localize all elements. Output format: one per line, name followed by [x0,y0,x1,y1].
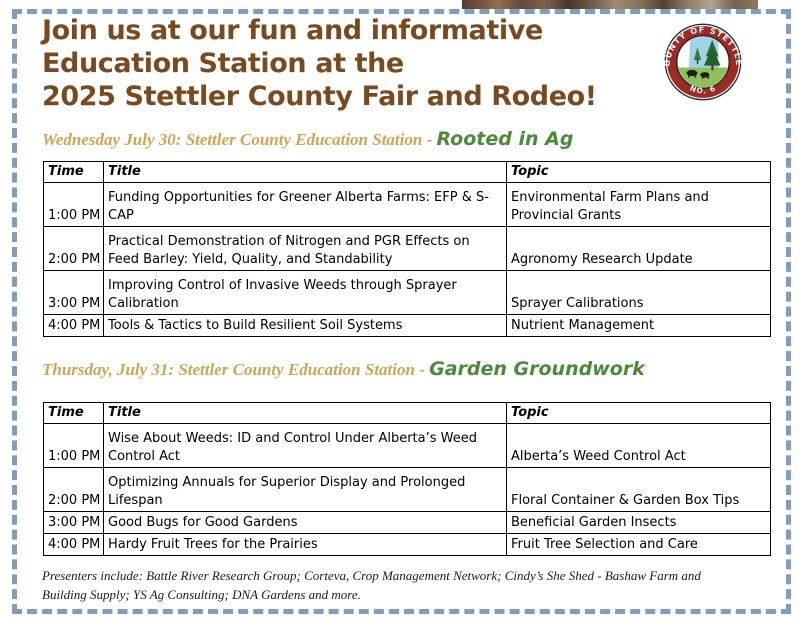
day1-date-label: Wednesday July 30: Stettler County Educa… [42,130,437,149]
cell-topic: Fruit Tree Selection and Care [507,534,771,556]
cell-title: Improving Control of Invasive Weeds thro… [104,271,507,315]
cell-topic: Floral Container & Garden Box Tips [507,468,771,512]
column-header-title: Title [104,403,507,424]
cell-title: Tools & Tactics to Build Resilient Soil … [104,315,507,337]
day2-date-label: Thursday, July 31: Stettler County Educa… [42,360,429,379]
day2-theme-label: Garden Groundwork [429,358,645,380]
cell-title: Hardy Fruit Trees for the Prairies [104,534,507,556]
column-header-time: Time [44,162,104,183]
presenters-note: Presenters include: Battle River Researc… [42,566,742,604]
page-title-line-3: 2025 Stettler County Fair and Rodeo! [42,80,642,113]
cell-title: Practical Demonstration of Nitrogen and … [104,227,507,271]
column-header-time: Time [44,403,104,424]
cell-time: 3:00 PM [44,512,104,534]
cell-topic: Environmental Farm Plans and Provincial … [507,183,771,227]
table-header-row: Time Title Topic [44,403,771,424]
county-of-stettler-seal-logo: COUNTY OF STETTLER NO. 6 [657,16,749,108]
page-title-line-2: Education Station at the [42,47,642,80]
day1-heading: Wednesday July 30: Stettler County Educa… [42,128,573,150]
table-row: 3:00 PM Improving Control of Invasive We… [44,271,771,315]
day2-schedule-table: Time Title Topic 1:00 PM Wise About Weed… [43,402,771,556]
cell-title: Funding Opportunities for Greener Albert… [104,183,507,227]
table-row: 1:00 PM Funding Opportunities for Greene… [44,183,771,227]
table-row: 1:00 PM Wise About Weeds: ID and Control… [44,424,771,468]
cell-time: 3:00 PM [44,271,104,315]
poster-header: Join us at our fun and informative Educa… [42,14,642,113]
poster-content: Join us at our fun and informative Educa… [0,0,803,630]
column-header-topic: Topic [507,162,771,183]
cell-topic: Sprayer Calibrations [507,271,771,315]
cell-topic: Agronomy Research Update [507,227,771,271]
cell-time: 2:00 PM [44,227,104,271]
cell-time: 4:00 PM [44,315,104,337]
column-header-title: Title [104,162,507,183]
cell-title: Good Bugs for Good Gardens [104,512,507,534]
day1-schedule-table: Time Title Topic 1:00 PM Funding Opportu… [43,161,771,337]
table-row: 3:00 PM Good Bugs for Good Gardens Benef… [44,512,771,534]
cell-time: 4:00 PM [44,534,104,556]
cell-title: Optimizing Annuals for Superior Display … [104,468,507,512]
column-header-topic: Topic [507,403,771,424]
cell-topic: Beneficial Garden Insects [507,512,771,534]
day1-theme-label: Rooted in Ag [437,128,574,150]
cell-time: 1:00 PM [44,183,104,227]
cell-topic: Nutrient Management [507,315,771,337]
page-title-line-1: Join us at our fun and informative [42,14,642,47]
cell-topic: Alberta’s Weed Control Act [507,424,771,468]
cell-time: 2:00 PM [44,468,104,512]
table-header-row: Time Title Topic [44,162,771,183]
table-row: 2:00 PM Optimizing Annuals for Superior … [44,468,771,512]
table-row: 4:00 PM Hardy Fruit Trees for the Prairi… [44,534,771,556]
cell-title: Wise About Weeds: ID and Control Under A… [104,424,507,468]
table-row: 4:00 PM Tools & Tactics to Build Resilie… [44,315,771,337]
cell-time: 1:00 PM [44,424,104,468]
table-row: 2:00 PM Practical Demonstration of Nitro… [44,227,771,271]
day2-heading: Thursday, July 31: Stettler County Educa… [42,358,645,380]
